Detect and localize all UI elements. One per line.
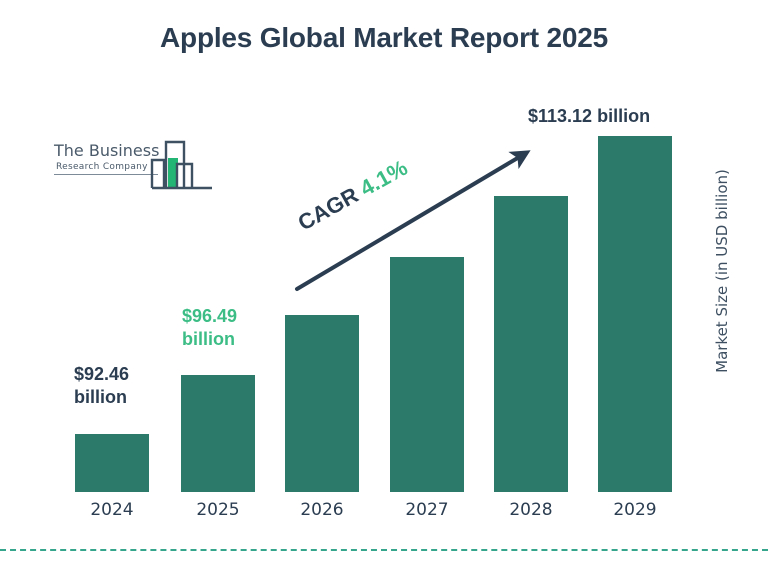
x-tick-2025: 2025 (181, 500, 255, 520)
bar-2026[interactable] (285, 315, 359, 492)
x-tick-2029: 2029 (598, 500, 672, 520)
value-label-2025: $96.49 billion (182, 305, 237, 351)
cagr-annotation: CAGR 4.1% (294, 155, 412, 236)
cagr-value: 4.1% (356, 155, 412, 201)
value-label-2024: $92.46 billion (74, 363, 129, 409)
cagr-label: CAGR (294, 179, 368, 235)
bar-2027[interactable] (390, 257, 464, 492)
y-axis-title: Market Size (in USD billion) (713, 151, 731, 391)
x-tick-2027: 2027 (390, 500, 464, 520)
x-tick-2028: 2028 (494, 500, 568, 520)
bar-2025[interactable] (181, 375, 255, 492)
footer-divider (0, 549, 768, 551)
value-label-2029: $113.12 billion (528, 105, 650, 128)
plot-area: 2024 2025 2026 2027 2028 2029 $92.46 bil… (0, 0, 768, 576)
bar-2028[interactable] (494, 196, 568, 492)
chart-canvas: Apples Global Market Report 2025 The Bus… (0, 0, 768, 576)
bar-2029[interactable] (598, 136, 672, 492)
x-tick-2026: 2026 (285, 500, 359, 520)
bar-2024[interactable] (75, 434, 149, 492)
x-tick-2024: 2024 (75, 500, 149, 520)
